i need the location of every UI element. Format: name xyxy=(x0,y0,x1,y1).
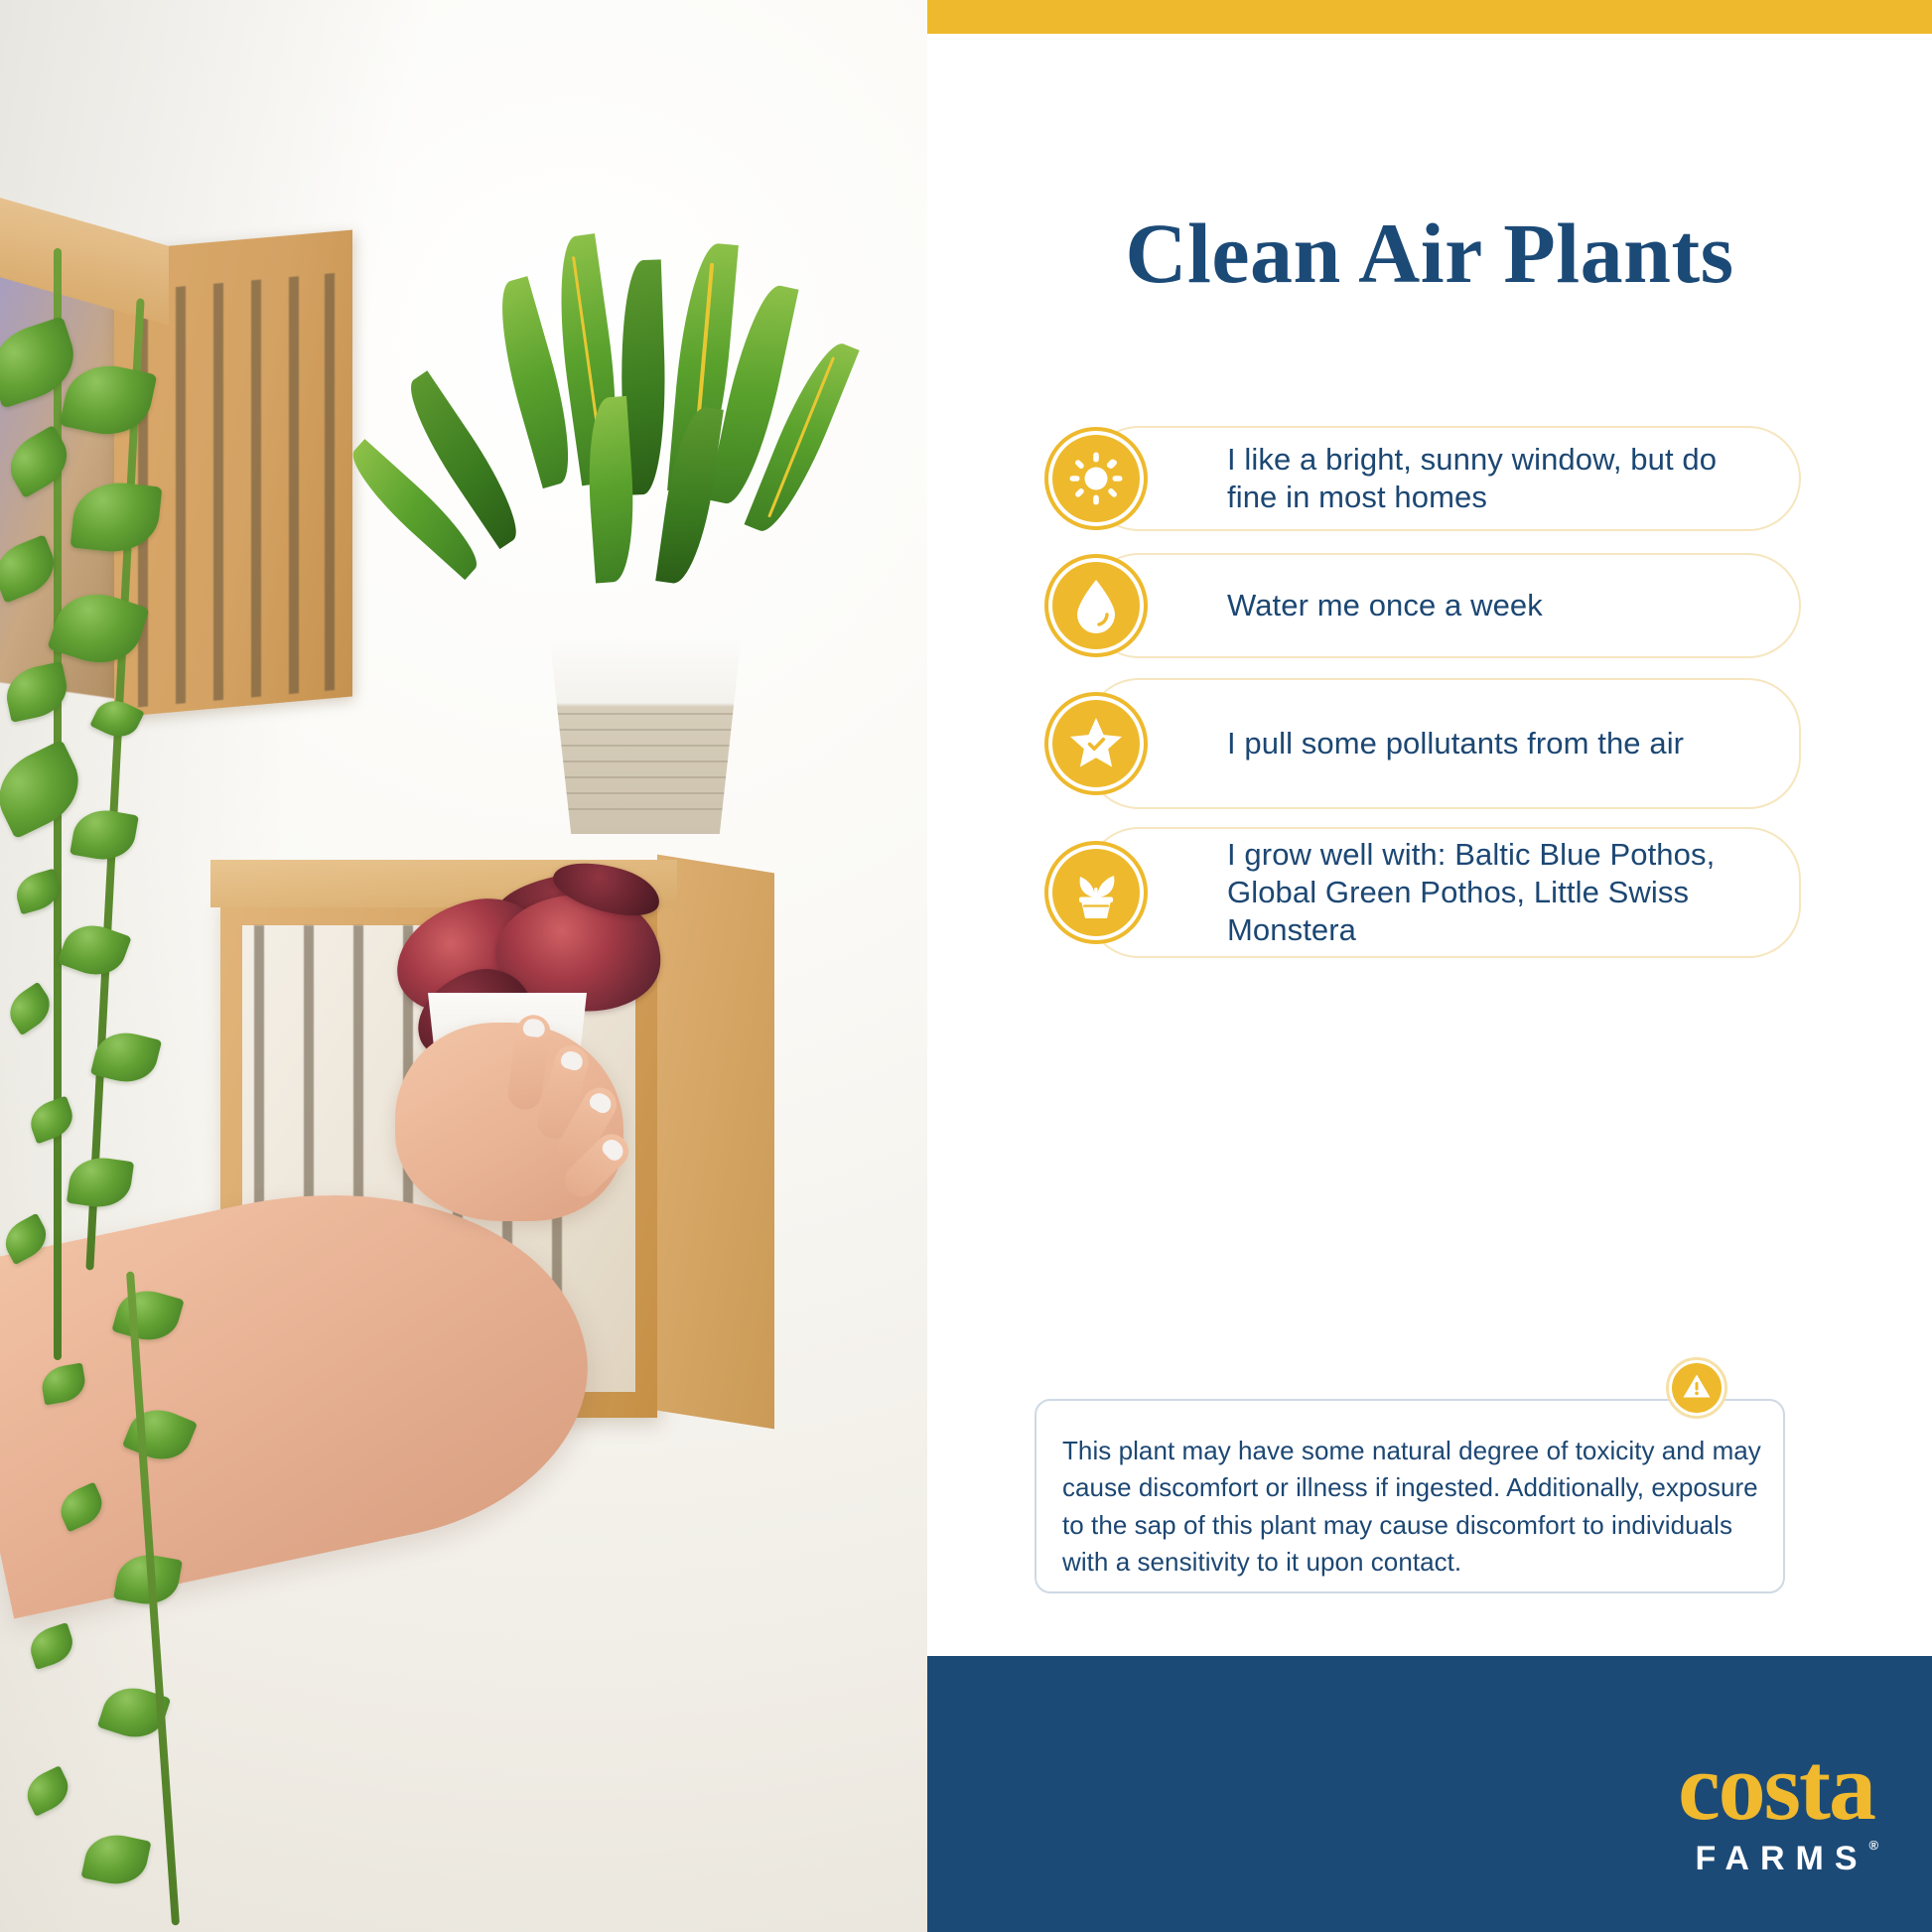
logo-wordmark-costa: costa xyxy=(1678,1744,1874,1830)
croton-pot xyxy=(536,635,755,834)
page-title: Clean Air Plants xyxy=(927,210,1932,296)
care-pill: I grow well with: Baltic Blue Pothos, Gl… xyxy=(1086,827,1801,958)
top-accent-bar xyxy=(927,0,1932,34)
hand xyxy=(395,1023,623,1221)
logo-farms-text: FARMS xyxy=(1696,1840,1868,1877)
potted-plant-icon-badge xyxy=(1044,841,1148,944)
sun-icon-badge xyxy=(1044,427,1148,530)
potted-plant-icon xyxy=(1068,864,1124,921)
warning-text: This plant may have some natural degree … xyxy=(1062,1433,1761,1582)
warning-box: This plant may have some natural degree … xyxy=(1035,1399,1785,1593)
toxicity-warning: This plant may have some natural degree … xyxy=(1035,1385,1785,1593)
water-drop-icon-badge xyxy=(1044,554,1148,657)
care-row: I pull some pollutants from the air xyxy=(927,669,1932,818)
care-row-label: Water me once a week xyxy=(1227,587,1543,624)
care-row-label: I like a bright, sunny window, but do fi… xyxy=(1227,441,1769,516)
warning-triangle-icon xyxy=(1682,1372,1712,1405)
warning-triangle-icon-badge xyxy=(1666,1357,1727,1419)
care-row: Water me once a week xyxy=(927,542,1932,669)
care-pill: I like a bright, sunny window, but do fi… xyxy=(1086,426,1801,531)
star-check-icon xyxy=(1067,716,1125,771)
care-pill: I pull some pollutants from the air xyxy=(1086,678,1801,809)
care-row-label: I grow well with: Baltic Blue Pothos, Gl… xyxy=(1227,836,1769,948)
registered-trademark-icon: ® xyxy=(1869,1838,1890,1853)
care-pill: Water me once a week xyxy=(1086,553,1801,658)
water-drop-icon xyxy=(1070,577,1122,634)
costa-farms-logo: costa FARMS® xyxy=(1678,1744,1874,1878)
brand-footer: costa FARMS® xyxy=(927,1656,1932,1932)
care-rows-list: I like a bright, sunny window, but do fi… xyxy=(927,415,1932,967)
star-check-icon-badge xyxy=(1044,692,1148,795)
product-photo xyxy=(0,0,927,1932)
care-row: I like a bright, sunny window, but do fi… xyxy=(927,415,1932,542)
content-panel: Clean Air Plants I like a bright, sunny … xyxy=(927,0,1932,1932)
sun-icon xyxy=(1067,450,1125,507)
care-row-label: I pull some pollutants from the air xyxy=(1227,725,1684,762)
care-row: I grow well with: Baltic Blue Pothos, Gl… xyxy=(927,818,1932,967)
infographic-root: Clean Air Plants I like a bright, sunny … xyxy=(0,0,1932,1932)
logo-wordmark-farms: FARMS® xyxy=(1678,1840,1874,1878)
